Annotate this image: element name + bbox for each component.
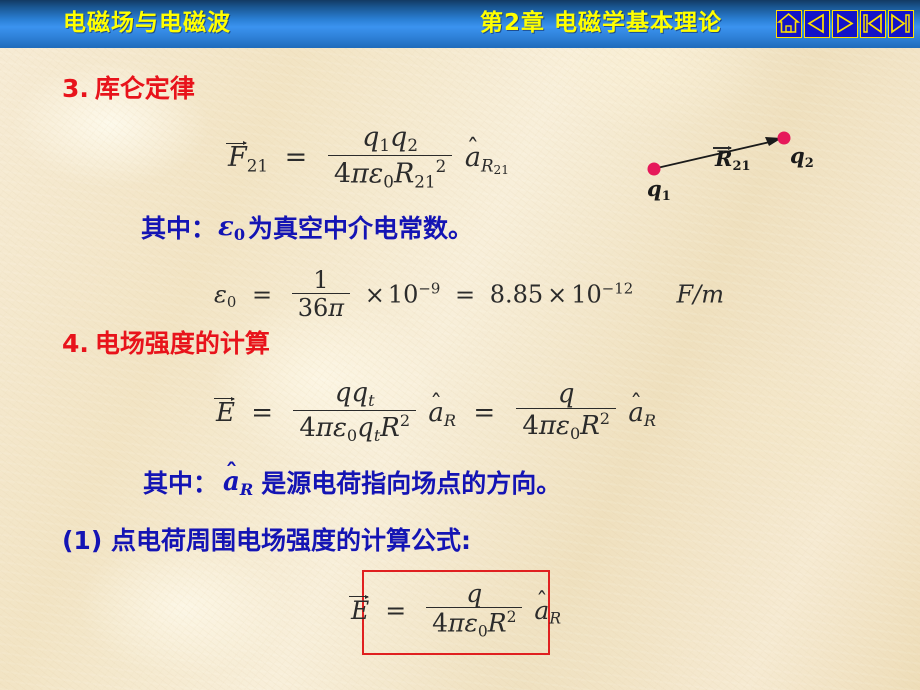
unit-vector-note-symbol: ˆaR [223, 469, 253, 498]
home-button[interactable] [776, 10, 802, 38]
epsilon-note-prefix: 其中： [141, 216, 216, 241]
unit-vector-note-line: 其中： ˆaR 是源电荷指向场点的方向。 [143, 469, 561, 498]
previous-button[interactable] [804, 10, 830, 38]
next-button[interactable] [832, 10, 858, 38]
last-button[interactable] [888, 10, 914, 38]
force-vector-symbol: F [228, 144, 247, 171]
section-4-number: 4. [62, 329, 89, 358]
epsilon-symbol: ε0 [218, 214, 245, 243]
epsilon-note-line: 其中： ε0 为真空中介电常数。 [141, 214, 473, 243]
efield-vector-symbol: E [216, 400, 235, 426]
distance-vector-label: R21 [715, 148, 751, 173]
first-button[interactable] [860, 10, 886, 38]
electric-field-formula: E = qqt 4πε0qtR2 ˆaR = q 4πε0R2 ˆaR [216, 382, 656, 446]
epsilon-units: F/m [676, 281, 724, 309]
section-3-title: 库仑定律 [95, 74, 195, 103]
charge-2-label: q2 [790, 145, 814, 170]
coulomb-fraction: q1q2 4πε0R212 [328, 124, 452, 190]
unit-vector-a: ˆa [465, 144, 481, 171]
chapter-title: 第2章 电磁学基本理论 [480, 12, 722, 35]
section-3-number: 3. [62, 74, 89, 103]
epsilon-value-formula: ε0 = 1 36π ×10−9 = 8.85×10−12 F/m [214, 270, 724, 322]
coulomb-law-formula: F21 = q1q2 4πε0R212 ˆaR21 [228, 126, 509, 192]
section-4-title: 电场强度的计算 [95, 329, 270, 358]
efield-fraction-2: q 4πε0R2 [516, 381, 616, 442]
boxed-point-charge-formula: E = q 4πε0R2 ˆaR [362, 570, 550, 655]
charge-pair-diagram: q1 q2 R21 [630, 118, 810, 203]
section-3-heading: 3.库仑定律 [62, 76, 195, 101]
course-title: 电磁场与电磁波 [63, 12, 231, 35]
epsilon-note-text: 为真空中介电常数。 [248, 216, 473, 241]
item-1-label: (1) 点电荷周围电场强度的计算公式: [62, 528, 471, 553]
efield-fraction-1: qqt 4πε0qtR2 [293, 380, 416, 444]
equals-sign: = [285, 142, 308, 173]
slide-header: 电磁场与电磁波 第2章 电磁学基本理论 [0, 0, 920, 48]
unit-vector-note-prefix: 其中： [143, 471, 218, 496]
point-charge-efield-formula: E = q 4πε0R2 ˆaR [351, 583, 561, 642]
unit-vector-note-text: 是源电荷指向场点的方向。 [261, 471, 561, 496]
section-4-heading: 4.电场强度的计算 [62, 331, 270, 356]
navigation-buttons [776, 10, 914, 38]
charge-1-label: q1 [647, 178, 671, 203]
slide-canvas: 电磁场与电磁波 第2章 电磁学基本理论 [0, 0, 920, 690]
